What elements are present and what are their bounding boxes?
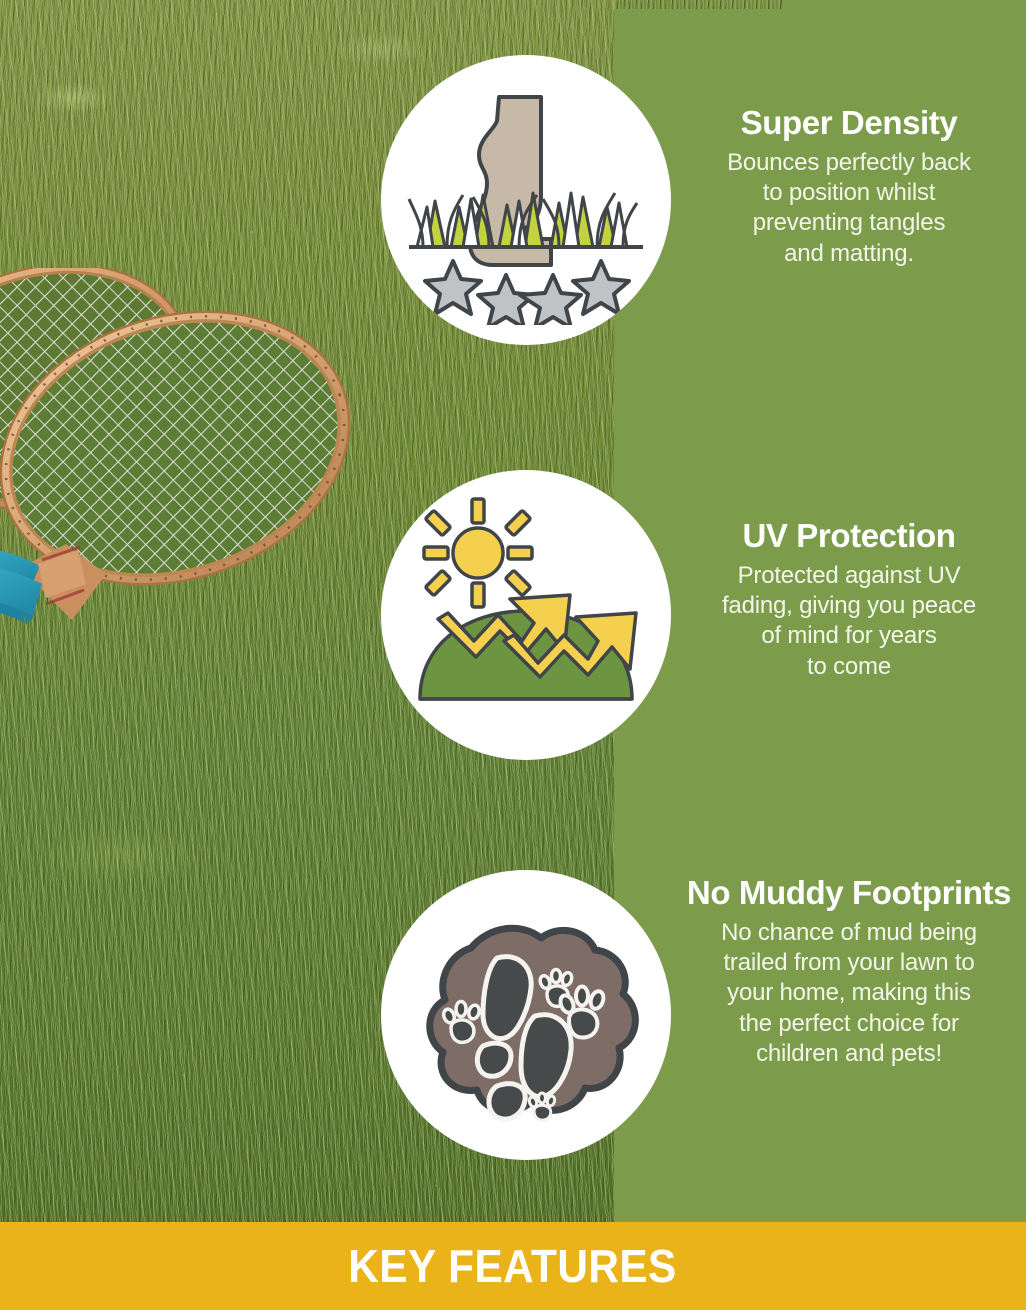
feature-desc-line: to come bbox=[686, 652, 1012, 682]
feature-desc-line: children and pets! bbox=[686, 1039, 1012, 1069]
feature-desc-line: your home, making this bbox=[686, 978, 1012, 1008]
feature-icon-circle bbox=[381, 870, 671, 1160]
feature-icon-circle bbox=[381, 55, 671, 345]
feature-desc-line: Protected against UV bbox=[686, 561, 1012, 591]
feature-description: No chance of mud being trailed from your… bbox=[686, 918, 1012, 1069]
feature-text-block: Super Density Bounces perfectly back to … bbox=[686, 105, 1012, 269]
sun-arrows-uv-icon bbox=[406, 495, 646, 735]
feature-description: Bounces perfectly back to position whils… bbox=[686, 148, 1012, 269]
feature-title: No Muddy Footprints bbox=[686, 875, 1012, 912]
feature-desc-line: Bounces perfectly back bbox=[686, 148, 1012, 178]
feature-title-line: Footprints bbox=[852, 874, 1011, 911]
feature-desc-line: of mind for years bbox=[686, 621, 1012, 651]
feature-desc-line: the perfect choice for bbox=[686, 1009, 1012, 1039]
tennis-rackets-illustration bbox=[0, 268, 430, 668]
feature-desc-line: fading, giving you peace bbox=[686, 591, 1012, 621]
feature-text-block: UV Protection Protected against UV fadin… bbox=[686, 518, 1012, 682]
key-features-infographic: Super Density Bounces perfectly back to … bbox=[0, 0, 1026, 1310]
feature-desc-line: and matting. bbox=[686, 239, 1012, 269]
feature-desc-line: trailed from your lawn to bbox=[686, 948, 1012, 978]
feature-desc-line: to position whilst bbox=[686, 178, 1012, 208]
key-features-banner: KEY FEATURES bbox=[0, 1222, 1026, 1310]
foot-on-grass-rating-icon bbox=[401, 75, 651, 325]
feature-icon-circle bbox=[381, 470, 671, 760]
feature-title-line: No Muddy bbox=[687, 874, 843, 911]
panel-top-grass-strip bbox=[614, 0, 782, 9]
feature-desc-line: No chance of mud being bbox=[686, 918, 1012, 948]
feature-title: Super Density bbox=[686, 105, 1012, 142]
feature-desc-line: preventing tangles bbox=[686, 208, 1012, 238]
mud-footprints-pawprints-icon bbox=[401, 890, 651, 1140]
banner-title: KEY FEATURES bbox=[349, 1243, 677, 1289]
feature-description: Protected against UV fading, giving you … bbox=[686, 561, 1012, 682]
feature-text-block: No Muddy Footprints No chance of mud bei… bbox=[686, 875, 1012, 1069]
feature-title: UV Protection bbox=[686, 518, 1012, 555]
